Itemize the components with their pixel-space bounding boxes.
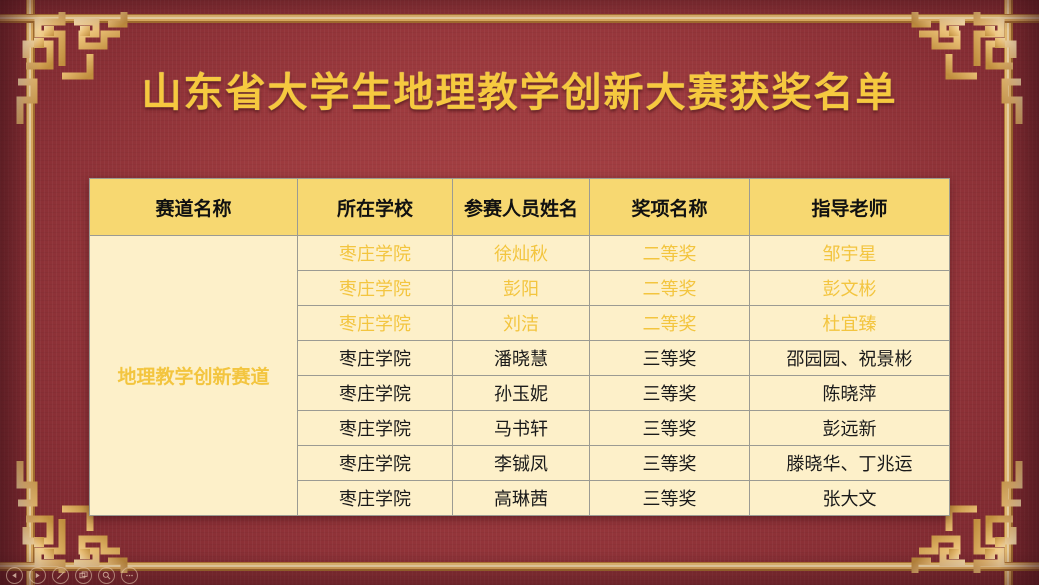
cell-school: 枣庄学院 xyxy=(298,306,453,341)
cell-participant-name: 孙玉妮 xyxy=(453,376,590,411)
gold-border-top xyxy=(0,14,1039,23)
column-header-award: 奖项名称 xyxy=(590,179,750,236)
cell-school: 枣庄学院 xyxy=(298,481,453,516)
gold-border-bottom xyxy=(0,562,1039,571)
table-header-row: 赛道名称 所在学校 参赛人员姓名 奖项名称 指导老师 xyxy=(90,179,950,236)
cell-advisor: 滕晓华、丁兆运 xyxy=(750,446,950,481)
cell-participant-name: 李铖凤 xyxy=(453,446,590,481)
cell-participant-name: 马书轩 xyxy=(453,411,590,446)
table-header: 赛道名称 所在学校 参赛人员姓名 奖项名称 指导老师 xyxy=(90,179,950,236)
previous-slide-icon[interactable] xyxy=(6,567,23,584)
cell-advisor: 张大文 xyxy=(750,481,950,516)
layout-grid-icon[interactable] xyxy=(75,567,92,584)
cell-participant-name: 潘晓慧 xyxy=(453,341,590,376)
cell-advisor: 彭文彬 xyxy=(750,271,950,306)
cell-award: 三等奖 xyxy=(590,341,750,376)
cell-advisor: 彭远新 xyxy=(750,411,950,446)
cell-school: 枣庄学院 xyxy=(298,271,453,306)
next-slide-icon[interactable] xyxy=(29,567,46,584)
cell-school: 枣庄学院 xyxy=(298,411,453,446)
award-list-table: 赛道名称 所在学校 参赛人员姓名 奖项名称 指导老师 地理教学创新赛道枣庄学院徐… xyxy=(89,178,949,516)
cell-award: 二等奖 xyxy=(590,306,750,341)
column-header-track: 赛道名称 xyxy=(90,179,298,236)
cell-advisor: 邵园园、祝景彬 xyxy=(750,341,950,376)
cell-award: 三等奖 xyxy=(590,481,750,516)
cell-track-name: 地理教学创新赛道 xyxy=(90,236,298,516)
column-header-advisor: 指导老师 xyxy=(750,179,950,236)
cell-advisor: 邹宇星 xyxy=(750,236,950,271)
pen-icon[interactable] xyxy=(52,567,69,584)
cell-school: 枣庄学院 xyxy=(298,446,453,481)
cell-participant-name: 彭阳 xyxy=(453,271,590,306)
cell-school: 枣庄学院 xyxy=(298,376,453,411)
cell-award: 三等奖 xyxy=(590,446,750,481)
table-row: 地理教学创新赛道枣庄学院徐灿秋二等奖邹宇星 xyxy=(90,236,950,271)
cell-participant-name: 徐灿秋 xyxy=(453,236,590,271)
cell-award: 二等奖 xyxy=(590,271,750,306)
column-header-participant: 参赛人员姓名 xyxy=(453,179,590,236)
cell-award: 二等奖 xyxy=(590,236,750,271)
cell-school: 枣庄学院 xyxy=(298,341,453,376)
cell-advisor: 陈晓萍 xyxy=(750,376,950,411)
column-header-school: 所在学校 xyxy=(298,179,453,236)
page-title: 山东省大学生地理教学创新大赛获奖名单 xyxy=(0,60,1039,118)
slideshow-toolbar[interactable] xyxy=(2,567,142,584)
cell-award: 三等奖 xyxy=(590,376,750,411)
cell-participant-name: 刘洁 xyxy=(453,306,590,341)
presentation-slide: 山东省大学生地理教学创新大赛获奖名单 赛道名称 所在学校 参赛人员姓名 奖项名称… xyxy=(0,0,1039,585)
award-table: 赛道名称 所在学校 参赛人员姓名 奖项名称 指导老师 地理教学创新赛道枣庄学院徐… xyxy=(89,178,950,516)
cell-participant-name: 高琳茜 xyxy=(453,481,590,516)
cell-award: 三等奖 xyxy=(590,411,750,446)
cell-school: 枣庄学院 xyxy=(298,236,453,271)
more-options-icon[interactable] xyxy=(121,567,138,584)
table-body: 地理教学创新赛道枣庄学院徐灿秋二等奖邹宇星枣庄学院彭阳二等奖彭文彬枣庄学院刘洁二… xyxy=(90,236,950,516)
cell-advisor: 杜宜臻 xyxy=(750,306,950,341)
zoom-icon[interactable] xyxy=(98,567,115,584)
